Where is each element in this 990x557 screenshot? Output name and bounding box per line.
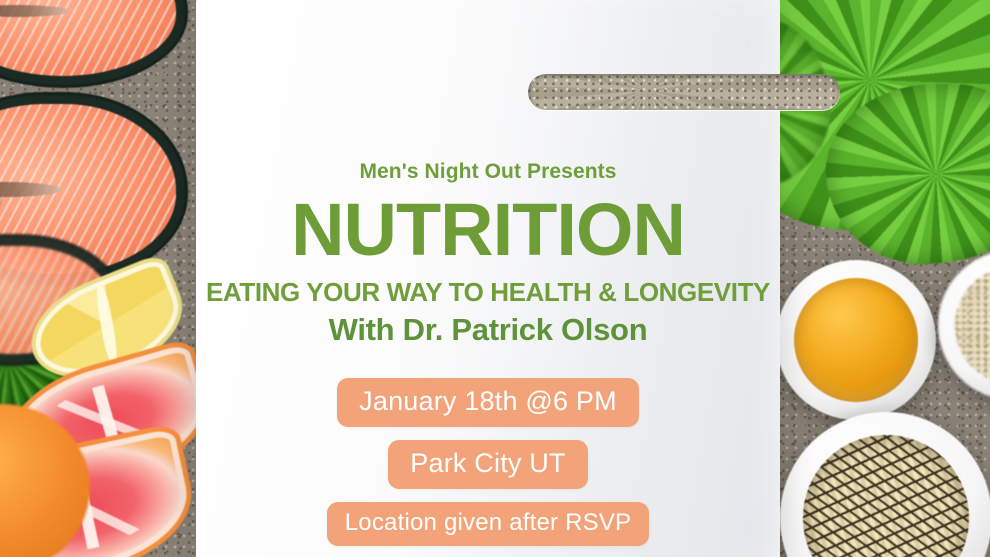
event-date-badge: January 18th @6 PM xyxy=(337,378,639,427)
flyer-text-content: Men's Night Out Presents NUTRITION EATIN… xyxy=(196,0,780,557)
page-title: NUTRITION xyxy=(196,192,780,267)
eyebrow-text: Men's Night Out Presents xyxy=(196,160,780,184)
olive-oil xyxy=(794,278,919,403)
event-location-badge: Park City UT xyxy=(388,440,587,489)
wild-rice xyxy=(803,435,968,557)
salmon-bone xyxy=(0,5,70,17)
quinoa-grains xyxy=(955,267,990,384)
event-rsvp-note-badge: Location given after RSVP xyxy=(327,502,650,546)
olive-oil-bowl xyxy=(776,260,936,420)
event-details-group: January 18th @6 PM Park City UT Location… xyxy=(196,378,780,546)
subheadline-text: EATING YOUR WAY TO HEALTH & LONGEVITY xyxy=(196,277,780,308)
presenter-name: With Dr. Patrick Olson xyxy=(196,312,780,348)
nutrition-event-flyer: Men's Night Out Presents NUTRITION EATIN… xyxy=(0,0,990,557)
salmon-bone xyxy=(0,182,62,197)
